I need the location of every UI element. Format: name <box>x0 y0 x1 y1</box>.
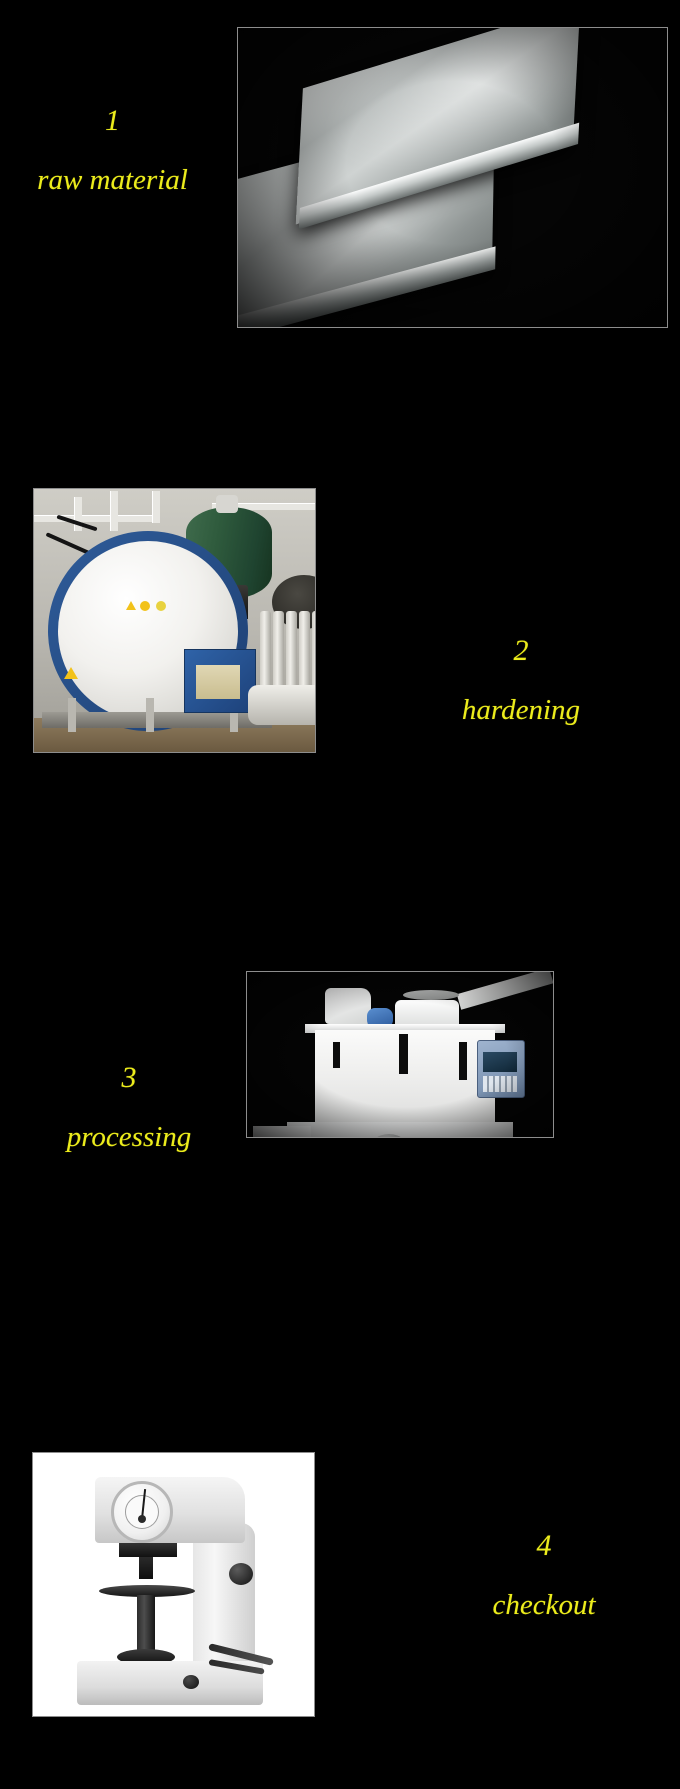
cylinder-bank <box>260 611 315 689</box>
cylinder <box>286 611 297 689</box>
photo-vignette <box>238 28 667 327</box>
step-4-caption: 4 checkout <box>420 1530 668 1620</box>
cylinder <box>273 611 284 689</box>
step-2-label: hardening <box>396 695 646 725</box>
step-3-number: 3 <box>14 1062 244 1094</box>
dial-hub <box>138 1515 146 1523</box>
handwheel-knob <box>183 1675 199 1689</box>
step-3-label: processing <box>14 1122 244 1152</box>
step-1-number: 1 <box>0 105 225 137</box>
cnc-grinding-machine-photo <box>247 972 553 1137</box>
cylinder <box>260 611 271 689</box>
furnace-stand-2 <box>146 698 154 732</box>
vacuum-pump-motor <box>248 685 315 725</box>
electrical-hazard-icon <box>64 667 78 679</box>
tank-cap <box>216 495 238 513</box>
step-2-caption: 2 hardening <box>396 635 646 725</box>
indenter <box>139 1557 153 1579</box>
step-1-label: raw material <box>0 165 225 195</box>
step-4-image-frame <box>32 1452 315 1717</box>
steel-plate-blocks-photo <box>238 28 667 327</box>
indenter-holder <box>119 1543 177 1557</box>
step-4-number: 4 <box>420 1530 668 1562</box>
vacuum-hardening-furnace-photo <box>34 489 315 752</box>
step-3-image-frame <box>246 971 554 1138</box>
vertical-pipe-2 <box>110 491 118 531</box>
process-infographic: 1 raw material <box>0 0 680 1789</box>
step-1-image-frame <box>237 27 668 328</box>
prohibition-icon <box>140 601 150 611</box>
caution-icon <box>156 601 166 611</box>
rockwell-hardness-tester-photo <box>33 1453 314 1716</box>
step-3-caption: 3 processing <box>14 1062 244 1152</box>
control-box-nameplate <box>196 665 240 699</box>
overhead-pipe-1 <box>34 515 154 522</box>
cylinder <box>312 611 315 689</box>
elevating-screw <box>137 1595 155 1653</box>
photo-vignette <box>247 972 553 1137</box>
step-2-number: 2 <box>396 635 646 667</box>
step-2-image-frame <box>33 488 316 753</box>
step-4-label: checkout <box>420 1590 668 1620</box>
furnace-stand-1 <box>68 698 76 732</box>
warning-triangle-icon <box>126 601 136 610</box>
load-selector-knob <box>229 1563 253 1585</box>
step-1-caption: 1 raw material <box>0 105 225 195</box>
cylinder <box>299 611 310 689</box>
vertical-pipe-3 <box>152 491 160 523</box>
